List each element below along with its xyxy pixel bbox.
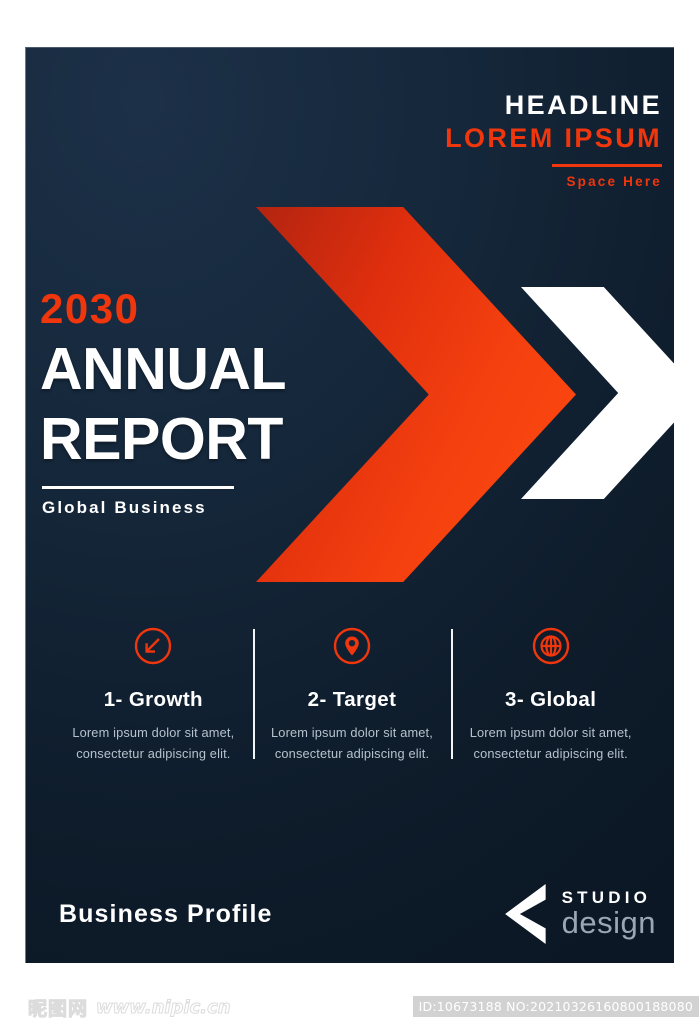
studio-design-logo: STUDIO design bbox=[500, 884, 656, 944]
feature-item-target: 2- Target Lorem ipsum dolor sit amet, co… bbox=[253, 626, 452, 764]
brand-name-design: design bbox=[562, 907, 656, 940]
feature-description: Lorem ipsum dolor sit amet, consectetur … bbox=[62, 723, 245, 764]
screenshot-canvas: HEADLINE LOREM IPSUM Space Here 2030 ANN… bbox=[0, 0, 699, 1024]
feature-title: 1- Growth bbox=[62, 688, 245, 712]
headline-divider bbox=[552, 164, 662, 167]
feature-title: 3- Global bbox=[459, 688, 642, 712]
title-divider bbox=[42, 486, 234, 489]
left-chevron-icon bbox=[500, 884, 546, 944]
feature-title: 2- Target bbox=[261, 688, 444, 712]
feature-item-global: 3- Global Lorem ipsum dolor sit amet, co… bbox=[451, 626, 650, 764]
watermark-bar: 昵图网 www.nipic.cn ID:10673188 NO:20210326… bbox=[0, 990, 699, 1024]
footer-title: Business Profile bbox=[59, 900, 273, 929]
watermark-id-label: ID:10673188 NO:20210326160800188080 bbox=[413, 996, 699, 1017]
annual-report-poster: HEADLINE LOREM IPSUM Space Here 2030 ANN… bbox=[25, 47, 674, 963]
brand-wordmark: STUDIO design bbox=[562, 888, 656, 940]
feature-description: Lorem ipsum dolor sit amet, consectetur … bbox=[459, 723, 642, 764]
arrow-down-left-circle-icon bbox=[133, 626, 173, 666]
headline-secondary: LOREM IPSUM bbox=[445, 123, 662, 155]
poster-title-block: 2030 ANNUAL REPORT Global Business bbox=[40, 288, 286, 518]
feature-list: 1- Growth Lorem ipsum dolor sit amet, co… bbox=[54, 626, 650, 764]
nipic-url-text: www.nipic.cn bbox=[96, 997, 231, 1018]
feature-description: Lorem ipsum dolor sit amet, consectetur … bbox=[261, 723, 444, 764]
report-year: 2030 bbox=[40, 288, 286, 330]
feature-item-growth: 1- Growth Lorem ipsum dolor sit amet, co… bbox=[54, 626, 253, 764]
headline-primary: HEADLINE bbox=[445, 91, 662, 119]
report-subtitle: Global Business bbox=[42, 498, 286, 518]
nipic-logo-cn: 昵图网 bbox=[28, 994, 88, 1021]
poster-header: HEADLINE LOREM IPSUM Space Here bbox=[445, 91, 662, 189]
report-title-line1: ANNUAL bbox=[40, 339, 286, 400]
report-title-line2: REPORT bbox=[40, 409, 286, 470]
headline-tertiary: Space Here bbox=[445, 174, 662, 189]
globe-circle-icon bbox=[531, 626, 571, 666]
orange-chevron-icon bbox=[256, 207, 576, 582]
location-pin-circle-icon bbox=[332, 626, 372, 666]
